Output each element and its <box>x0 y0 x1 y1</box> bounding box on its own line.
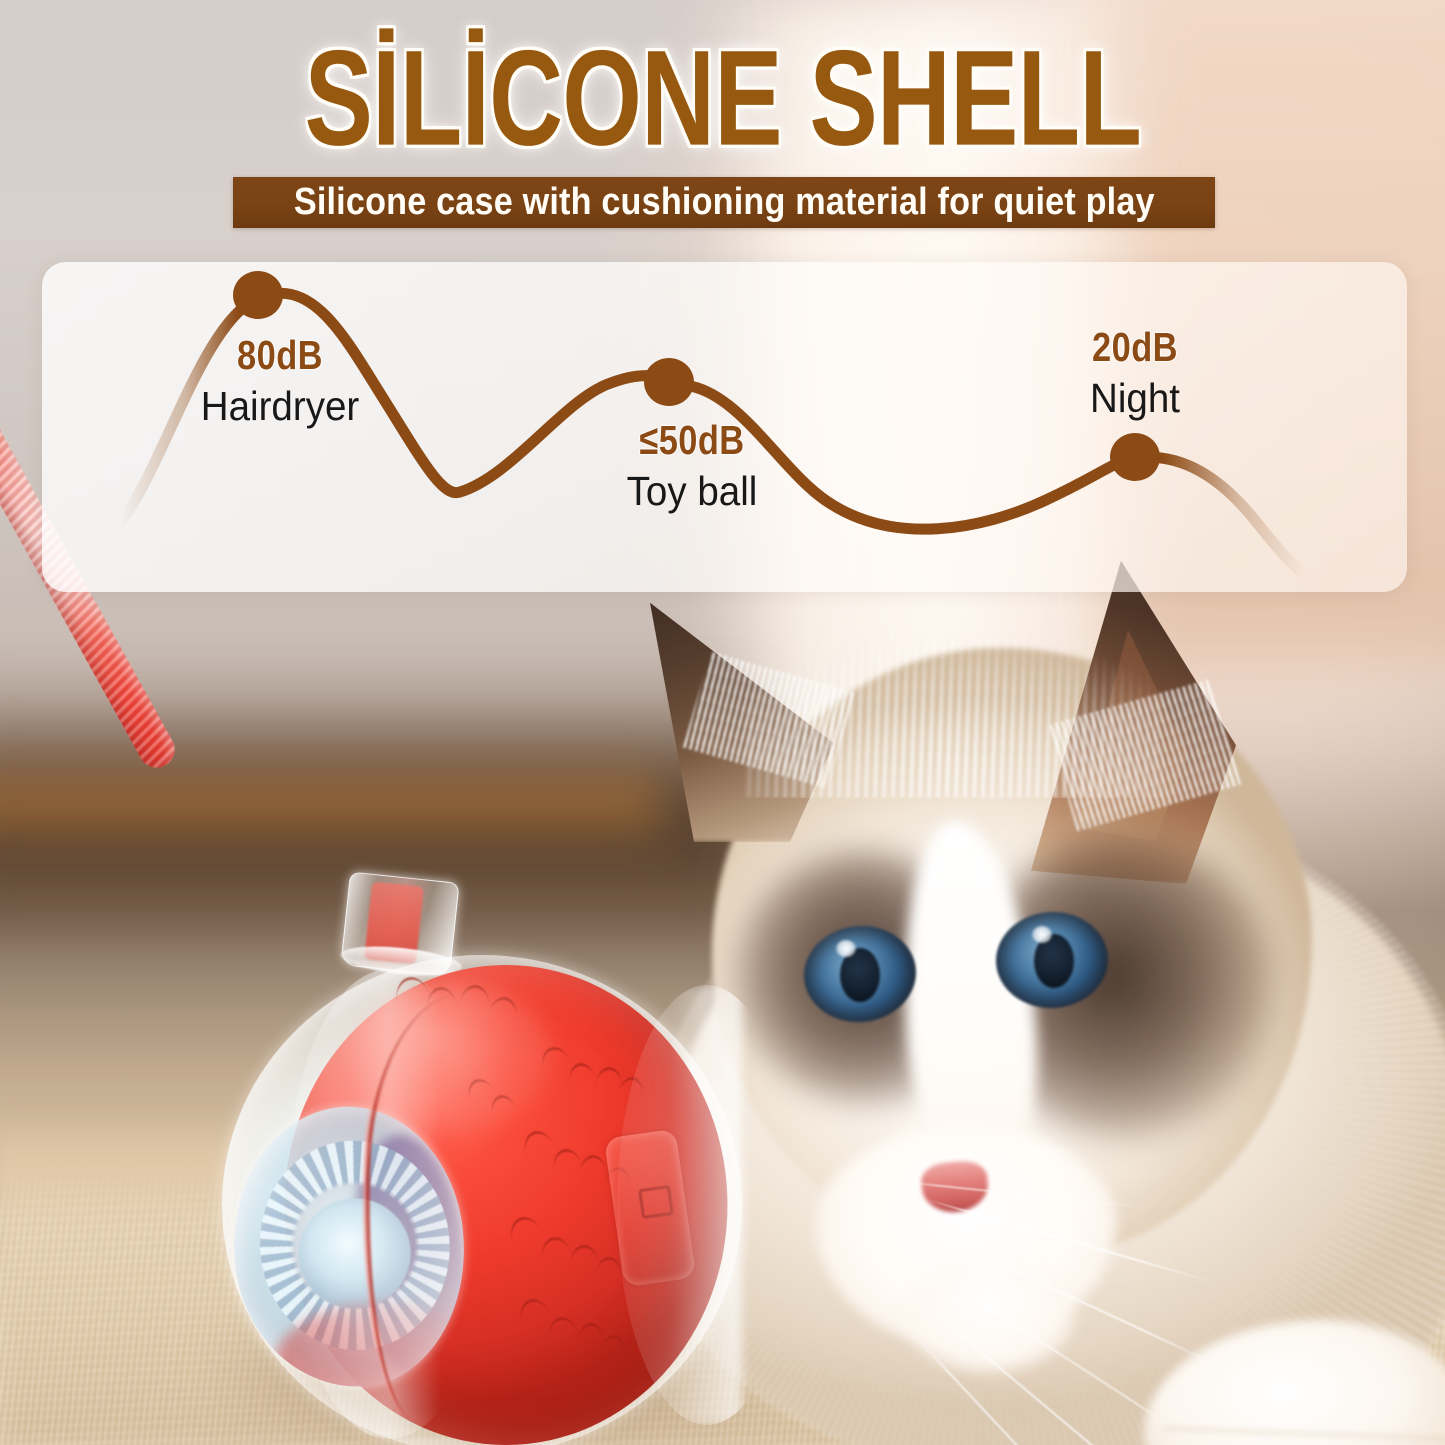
node-dot-hairdryer <box>233 271 283 319</box>
whisker <box>886 1148 1086 1160</box>
cat-eye-glint-right <box>1032 926 1052 943</box>
node-dot-toy-ball <box>644 358 694 406</box>
cat-paw-toes <box>1164 1400 1445 1445</box>
cat-forehead-fur <box>744 628 1164 798</box>
noise-node-toy-ball: ≤50dB Toy ball <box>567 417 817 515</box>
noise-node-night: 20dB Night <box>1020 324 1250 422</box>
whisker <box>911 1332 1110 1445</box>
noise-value-night: 20dB <box>1038 324 1231 371</box>
whisker <box>930 1230 1230 1371</box>
page-title-text: SİLİCONE SHELL <box>304 36 1141 161</box>
noise-label-toy-ball: Toy ball <box>575 468 810 515</box>
product-marketing-image: 80dB Hairdryer ≤50dB Toy ball 20dB Night… <box>0 0 1445 1445</box>
ball-highlight <box>352 983 552 1133</box>
node-dot-night <box>1110 433 1160 481</box>
cat-eye-glint-left <box>836 940 856 957</box>
noise-label-hairdryer: Hairdryer <box>167 383 393 430</box>
whisker <box>894 1180 1143 1208</box>
noise-comparison-panel: 80dB Hairdryer ≤50dB Toy ball 20dB Night <box>42 262 1407 592</box>
subtitle-text: Silicone case with cushioning material f… <box>294 181 1155 224</box>
whisker <box>924 1198 1213 1283</box>
noise-label-night: Night <box>1027 375 1243 422</box>
interactive-cat-ball <box>222 955 742 1445</box>
noise-value-toy-ball: ≤50dB <box>587 417 797 464</box>
page-title: SİLİCONE SHELL <box>0 40 1445 158</box>
noise-node-hairdryer: 80dB Hairdryer <box>160 332 400 430</box>
subtitle-bar: Silicone case with cushioning material f… <box>233 177 1215 228</box>
noise-value-hairdryer: 80dB <box>179 332 381 379</box>
